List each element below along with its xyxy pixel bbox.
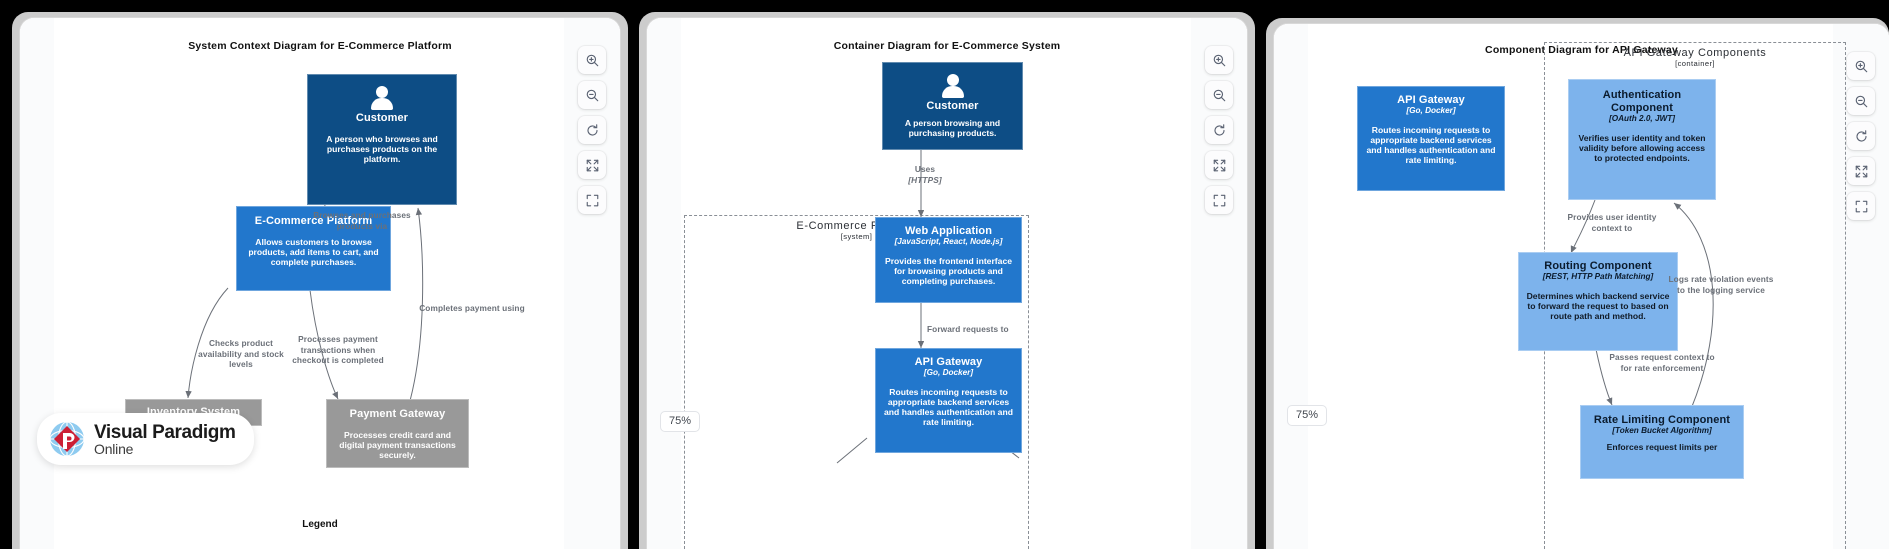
fit-screen-icon (1854, 164, 1869, 179)
boundary-name: API Gateway Components (1544, 47, 1846, 59)
reset-zoom-button[interactable] (1205, 116, 1233, 144)
edge-label-completes-payment: Completes payment using (418, 303, 526, 314)
node-api-gateway[interactable]: API Gateway [Go, Docker] Routes incoming… (1357, 86, 1505, 191)
visual-paradigm-watermark: Visual Paradigm Online (37, 413, 254, 465)
zoom-in-icon (585, 53, 600, 68)
edge-label-logs-rate-violation: Logs rate violation events to the loggin… (1665, 274, 1777, 295)
boundary-label: API Gateway Components [container] (1544, 47, 1846, 68)
fullscreen-icon (585, 193, 600, 208)
node-description: A person browsing and purchasing product… (890, 118, 1015, 138)
node-technology: [REST, HTTP Path Matching] (1526, 272, 1670, 282)
node-description: Routes incoming requests to appropriate … (883, 387, 1014, 428)
node-payment-gateway[interactable]: Payment Gateway Processes credit card an… (326, 399, 469, 468)
node-description: Determines which backend service to forw… (1526, 291, 1670, 321)
zoom-out-icon (1854, 94, 1869, 109)
node-description: Processes credit card and digital paymen… (334, 430, 461, 460)
person-icon (369, 86, 395, 110)
node-description: Routes incoming requests to appropriate … (1365, 125, 1497, 166)
page-title-container: Container Diagram for E-Commerce System (647, 40, 1247, 52)
node-web-application[interactable]: Web Application [JavaScript, React, Node… (875, 217, 1022, 303)
fit-screen-icon (585, 158, 600, 173)
edge-label-text: Uses (875, 164, 975, 175)
zoom-level-badge[interactable]: 75% (660, 411, 700, 432)
zoom-in-button[interactable] (578, 46, 606, 74)
node-technology: [Go, Docker] (1365, 106, 1497, 116)
panel-3-toolbar (1847, 52, 1875, 220)
zoom-in-button[interactable] (1205, 46, 1233, 74)
panel-1-toolbar (578, 46, 606, 214)
zoom-out-button[interactable] (578, 81, 606, 109)
node-title: Customer (315, 112, 449, 125)
node-technology: [OAuth 2.0, JWT] (1576, 114, 1708, 124)
fullscreen-button[interactable] (1205, 186, 1233, 214)
edge-label-forward-requests: Forward requests to (927, 324, 1047, 335)
node-description: Provides the frontend interface for brow… (883, 256, 1014, 286)
panel-component-diagram: Component Diagram for API Gateway API Ga… (1274, 24, 1889, 549)
node-description: Allows customers to browse products, add… (244, 237, 383, 267)
visual-paradigm-logo-icon (47, 419, 87, 459)
edge-label-tech: [HTTPS] (875, 175, 975, 186)
reset-zoom-button[interactable] (1847, 122, 1875, 150)
zoom-out-button[interactable] (1847, 87, 1875, 115)
node-title: Customer (890, 100, 1015, 113)
node-technology: [Token Bucket Algorithm] (1588, 426, 1736, 436)
node-description: Verifies user identity and token validit… (1576, 133, 1708, 163)
node-authentication-component[interactable]: Authentication Component [OAuth 2.0, JWT… (1568, 79, 1716, 200)
node-technology: [Go, Docker] (883, 368, 1014, 378)
edge-label-passes-request-context: Passes request context to for rate enfor… (1607, 352, 1717, 373)
zoom-in-icon (1212, 53, 1227, 68)
person-icon (940, 74, 966, 98)
zoom-level-badge[interactable]: 75% (1287, 405, 1327, 426)
zoom-in-icon (1854, 59, 1869, 74)
node-rate-limiting-component[interactable]: Rate Limiting Component [Token Bucket Al… (1580, 405, 1744, 479)
node-customer[interactable]: Customer A person who browses and purcha… (307, 74, 457, 205)
panel-system-context: System Context Diagram for E-Commerce Pl… (20, 18, 620, 549)
fit-screen-button[interactable] (1205, 151, 1233, 179)
zoom-out-icon (585, 88, 600, 103)
fullscreen-icon (1212, 193, 1227, 208)
zoom-out-button[interactable] (1205, 81, 1233, 109)
zoom-out-icon (1212, 88, 1227, 103)
node-customer[interactable]: Customer A person browsing and purchasin… (882, 62, 1023, 150)
legend-label: Legend (20, 519, 620, 530)
panel-2-left-gutter (647, 18, 681, 549)
node-routing-component[interactable]: Routing Component [REST, HTTP Path Match… (1518, 252, 1678, 351)
reset-zoom-icon (1854, 129, 1869, 144)
fullscreen-button[interactable] (578, 186, 606, 214)
node-technology: [JavaScript, React, Node.js] (883, 237, 1014, 247)
node-api-gateway[interactable]: API Gateway [Go, Docker] Routes incoming… (875, 348, 1022, 453)
edge-label-uses: Uses [HTTPS] (875, 164, 975, 185)
node-title: Authentication Component (1576, 89, 1708, 115)
panel-container-diagram: Container Diagram for E-Commerce System … (647, 18, 1247, 549)
panel-3-left-gutter (1274, 24, 1308, 549)
fit-screen-button[interactable] (578, 151, 606, 179)
reset-zoom-button[interactable] (578, 116, 606, 144)
fullscreen-icon (1854, 199, 1869, 214)
watermark-line-2: Online (94, 442, 236, 456)
screenshot-stage: System Context Diagram for E-Commerce Pl… (0, 0, 1889, 549)
edge-label-provides-identity: Provides user identity context to (1557, 212, 1667, 233)
fullscreen-button[interactable] (1847, 192, 1875, 220)
node-title: Payment Gateway (334, 408, 461, 421)
watermark-line-1: Visual Paradigm (94, 423, 236, 442)
boundary-kind: [container] (1544, 59, 1846, 68)
edge-label-browses: Browses and purchases products via (306, 210, 418, 231)
fit-screen-button[interactable] (1847, 157, 1875, 185)
panel-1-left-gutter (20, 18, 54, 549)
node-description: A person who browses and purchases produ… (315, 134, 449, 164)
node-description: Enforces request limits per (1588, 442, 1736, 452)
reset-zoom-icon (585, 123, 600, 138)
panel-2-toolbar (1205, 46, 1233, 214)
reset-zoom-icon (1212, 123, 1227, 138)
zoom-in-button[interactable] (1847, 52, 1875, 80)
fit-screen-icon (1212, 158, 1227, 173)
edge-label-processes-payment: Processes payment transactions when chec… (288, 334, 388, 366)
page-title-system-context: System Context Diagram for E-Commerce Pl… (20, 40, 620, 52)
edge-label-checks-product: Checks product availability and stock le… (186, 338, 296, 370)
